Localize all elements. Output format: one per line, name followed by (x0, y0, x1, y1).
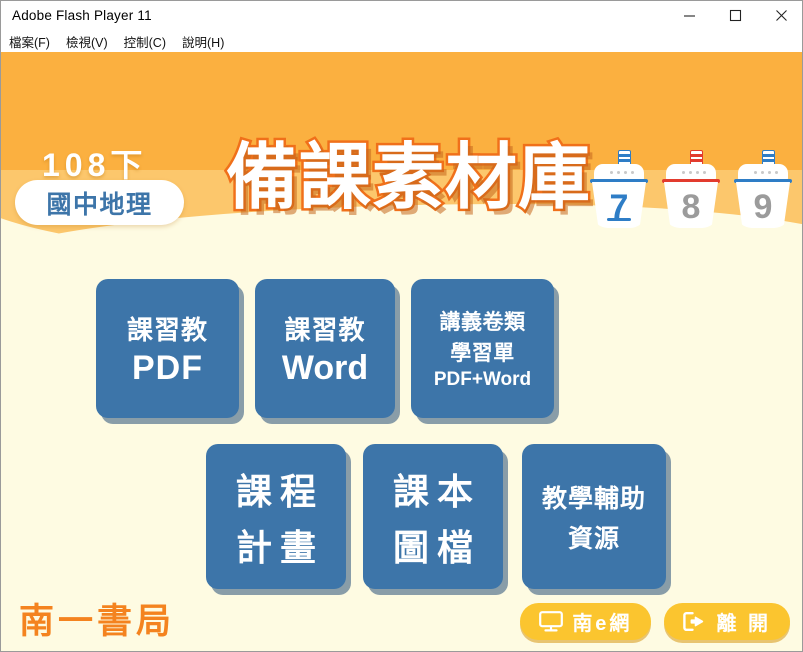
ship-hull: 7 (592, 182, 646, 228)
tile-handout-worksheet[interactable]: 講義卷類 學習單 PDF+Word (411, 279, 554, 418)
tile-line1: 教學輔助 (542, 479, 646, 515)
exit-icon (683, 611, 707, 632)
nanie-web-label: 南e網 (572, 607, 632, 636)
tile-line3: PDF+Word (434, 369, 531, 391)
tile-line1: 課程 (228, 463, 324, 515)
subject-badge: 國中地理 (15, 180, 184, 225)
window-controls (666, 1, 803, 30)
tile-line2: 計畫 (228, 519, 324, 571)
menu-item-view[interactable]: 檢視(V) (66, 32, 108, 51)
tile-line1: 課本 (385, 463, 481, 515)
tile-line2: 圖檔 (385, 519, 481, 571)
tile-line1: 課習教 (284, 310, 365, 347)
menu-item-control[interactable]: 控制(C) (124, 32, 166, 51)
window-title: Adobe Flash Player 11 (12, 8, 152, 23)
nanie-web-button[interactable]: 南e網 (520, 603, 651, 640)
menu-item-file[interactable]: 檔案(F) (9, 32, 50, 51)
grade-ship-7[interactable]: 7 (590, 150, 648, 228)
grade-selector: 7 8 9 (590, 150, 792, 228)
monitor-icon (539, 611, 563, 632)
menu-bar: 檔案(F) 檢視(V) 控制(C) 說明(H) (1, 30, 803, 52)
ship-hull: 8 (664, 182, 718, 228)
minimize-button[interactable] (666, 1, 712, 30)
grade-ship-9[interactable]: 9 (734, 150, 792, 228)
tile-line1: 講義卷類 (440, 306, 526, 336)
tile-lesson-word[interactable]: 課習教 Word (255, 279, 395, 418)
title-bar: Adobe Flash Player 11 (1, 1, 803, 30)
exit-button[interactable]: 離 開 (664, 603, 790, 640)
tile-teaching-resources[interactable]: 教學輔助 資源 (522, 444, 666, 589)
close-icon (775, 9, 788, 22)
flash-player-window: Adobe Flash Player 11 檔案(F) 檢視(V) 控制(C) (0, 0, 803, 652)
subject-label: 國中地理 (46, 185, 152, 221)
tile-course-plan[interactable]: 課程 計畫 (206, 444, 346, 589)
tile-line1: 課習教 (127, 310, 208, 347)
ship-hull: 9 (736, 182, 790, 228)
close-button[interactable] (758, 1, 803, 30)
maximize-icon (729, 9, 742, 22)
page-title: 備課素材庫 (226, 118, 591, 223)
maximize-button[interactable] (712, 1, 758, 30)
minimize-icon (683, 9, 696, 22)
grade-number-9: 9 (754, 190, 773, 224)
ship-portholes (754, 171, 778, 174)
grade-number-8: 8 (682, 190, 701, 224)
publisher-logo: 南一書局 (19, 593, 175, 644)
ship-portholes (610, 171, 634, 174)
flash-stage: 108下 國中地理 備課素材庫 7 (1, 52, 803, 652)
grade-ship-8[interactable]: 8 (662, 150, 720, 228)
exit-label: 離 開 (716, 607, 771, 636)
tile-textbook-images[interactable]: 課本 圖檔 (363, 444, 503, 589)
tile-lesson-pdf[interactable]: 課習教 PDF (96, 279, 239, 418)
tile-line2: 學習單 (450, 337, 515, 367)
ship-portholes (682, 171, 706, 174)
tile-line2: PDF (132, 349, 203, 388)
footer-buttons: 南e網 離 開 (520, 603, 790, 640)
menu-item-help[interactable]: 說明(H) (182, 32, 224, 51)
tile-line2: 資源 (568, 519, 620, 555)
grade-active-underline (607, 218, 631, 221)
tile-line2: Word (282, 349, 368, 388)
